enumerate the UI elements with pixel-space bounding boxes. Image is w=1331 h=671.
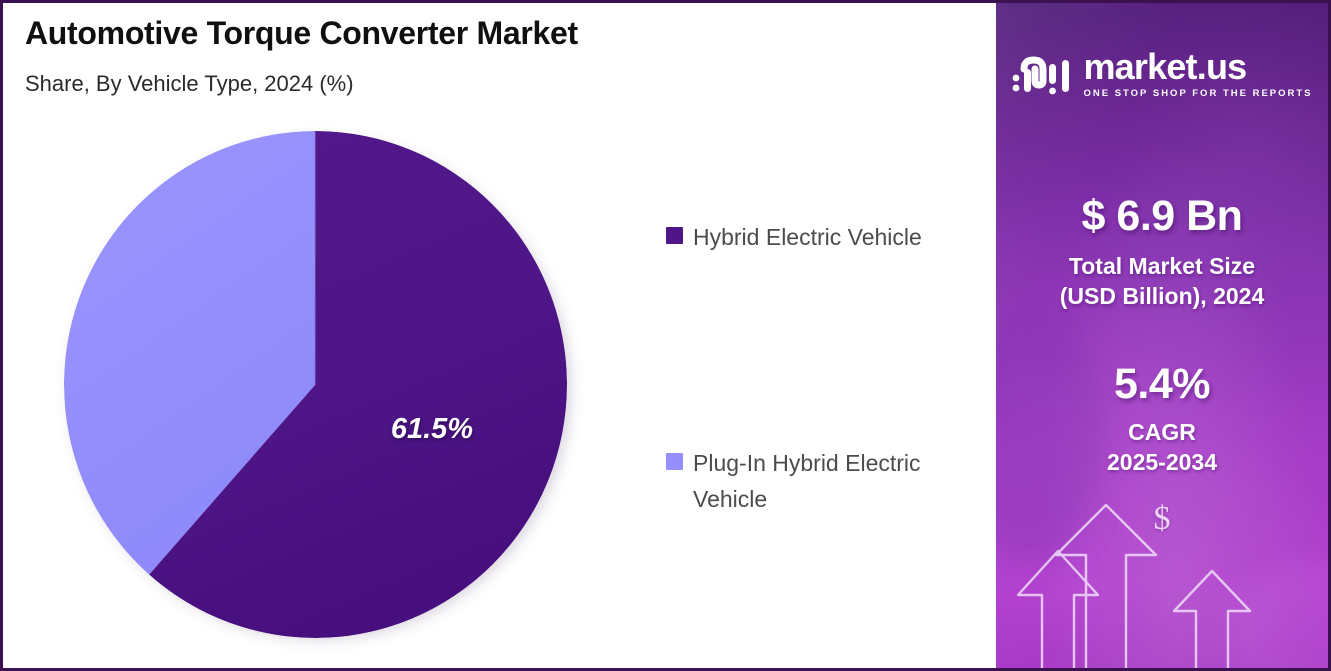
market-size-stat: $ 6.9 Bn Total Market Size (USD Billion)… bbox=[996, 193, 1328, 311]
legend-swatch-icon bbox=[666, 453, 683, 470]
legend-item-label: Plug-In Hybrid Electric Vehicle bbox=[693, 445, 923, 517]
logo-wordmark: market.us bbox=[1083, 49, 1246, 85]
cagr-caption-line1: CAGR bbox=[996, 417, 1328, 447]
stats-panel: market.us ONE STOP SHOP FOR THE REPORTS … bbox=[996, 3, 1328, 668]
pie-data-label: 61.5% bbox=[391, 413, 473, 446]
cagr-stat: 5.4% CAGR 2025-2034 bbox=[996, 361, 1328, 477]
legend-item-label: Hybrid Electric Vehicle bbox=[693, 219, 922, 255]
market-us-logo-icon bbox=[1011, 52, 1073, 96]
cagr-caption-line2: 2025-2034 bbox=[996, 447, 1328, 477]
growth-arrows-icon bbox=[996, 493, 1328, 668]
market-size-caption-line2: (USD Billion), 2024 bbox=[996, 281, 1328, 311]
legend-swatch-icon bbox=[666, 227, 683, 244]
market-size-value: $ 6.9 Bn bbox=[996, 193, 1328, 239]
legend-item-hybrid-electric-vehicle[interactable]: Hybrid Electric Vehicle bbox=[666, 219, 956, 255]
brand-logo[interactable]: market.us ONE STOP SHOP FOR THE REPORTS bbox=[996, 49, 1328, 99]
page-title: Automotive Torque Converter Market bbox=[25, 15, 578, 52]
chart-area: Automotive Torque Converter Market Share… bbox=[3, 3, 996, 668]
pie-chart: 61.5% bbox=[64, 131, 570, 643]
page-subtitle: Share, By Vehicle Type, 2024 (%) bbox=[25, 71, 354, 97]
logo-text: market.us ONE STOP SHOP FOR THE REPORTS bbox=[1083, 49, 1312, 99]
market-size-caption-line1: Total Market Size bbox=[996, 251, 1328, 281]
pie-slices bbox=[64, 131, 567, 638]
infographic-frame: Automotive Torque Converter Market Share… bbox=[0, 0, 1331, 671]
logo-tagline: ONE STOP SHOP FOR THE REPORTS bbox=[1083, 88, 1312, 99]
cagr-value: 5.4% bbox=[996, 361, 1328, 407]
pie-svg bbox=[64, 131, 567, 638]
legend-item-plug-in-hybrid-electric-vehicle[interactable]: Plug-In Hybrid Electric Vehicle bbox=[666, 445, 956, 517]
